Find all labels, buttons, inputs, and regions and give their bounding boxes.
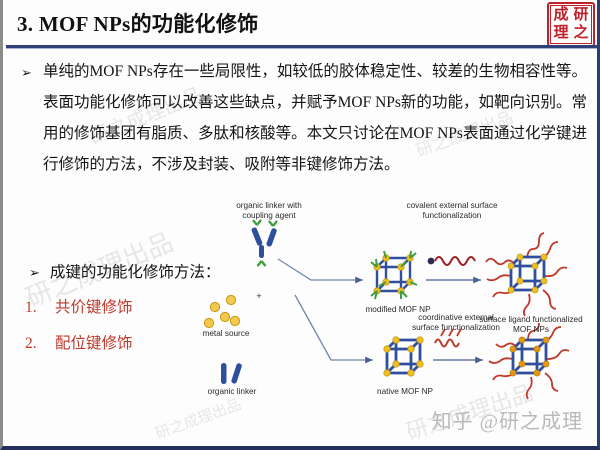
label-organic-linker: organic linker — [193, 387, 271, 397]
label-covalent-functionalization: covalent external surface functionalizat… — [389, 201, 515, 221]
label-native-mof-np: native MOF NP — [355, 387, 455, 397]
arrow-to-modified-np — [278, 259, 363, 280]
page-title: 3. MOF NPs的功能化修饰 — [17, 8, 258, 38]
scheme-diagram: organic linker with coupling agent coval… — [183, 195, 600, 420]
label-coordinative-functionalization: coordinative external surface functional… — [395, 313, 517, 333]
intro-paragraph: ➢ 单纯的MOF NPs存在一些局限性，如较低的胶体稳定性、较差的生物相容性等。… — [21, 56, 587, 180]
seal-char: 之 — [571, 25, 591, 44]
seal-stamp: 成 研 理 之 — [547, 2, 595, 47]
organic-linker-icon — [221, 363, 242, 385]
list-item-index: 1. — [25, 299, 55, 317]
native-mof-np-icon — [384, 337, 423, 376]
title-divider-light — [6, 48, 598, 49]
intro-paragraph-text: 单纯的MOF NPs存在一些局限性，如较低的胶体稳定性、较差的生物相容性等。表面… — [21, 56, 587, 180]
zhihu-watermark: 知乎 @研之成理 — [432, 405, 583, 434]
list-item-label: 配位键修饰 — [55, 331, 133, 353]
label-metal-source: metal source — [187, 329, 265, 339]
bullet-arrow-icon: ➢ — [21, 57, 32, 88]
list-item-label: 共价键修饰 — [55, 295, 133, 317]
label-organic-linker-coupling: organic linker with coupling agent — [217, 201, 321, 221]
modified-mof-np-icon — [371, 251, 417, 299]
seal-grid: 成 研 理 之 — [550, 5, 592, 44]
coupling-linker-icon — [251, 220, 278, 266]
seal-char: 成 — [551, 6, 571, 25]
slide: 研之成理出品 研之成理出品 研之成理出品 研之成理出品 研之成理出品 3. MO… — [0, 0, 600, 450]
bullet-arrow-icon: ➢ — [29, 265, 40, 280]
metal-source-icon — [204, 295, 239, 327]
seal-char: 理 — [551, 25, 571, 44]
polymer-squiggle-icon — [428, 257, 475, 265]
list-item-index: 2. — [25, 335, 55, 353]
seal-char: 研 — [571, 6, 591, 25]
label-plus-sign: + — [253, 291, 265, 301]
slide-header: 3. MOF NPs的功能化修饰 成 研 理 之 — [3, 0, 600, 46]
functionalized-mof-np-top-icon — [486, 233, 567, 316]
